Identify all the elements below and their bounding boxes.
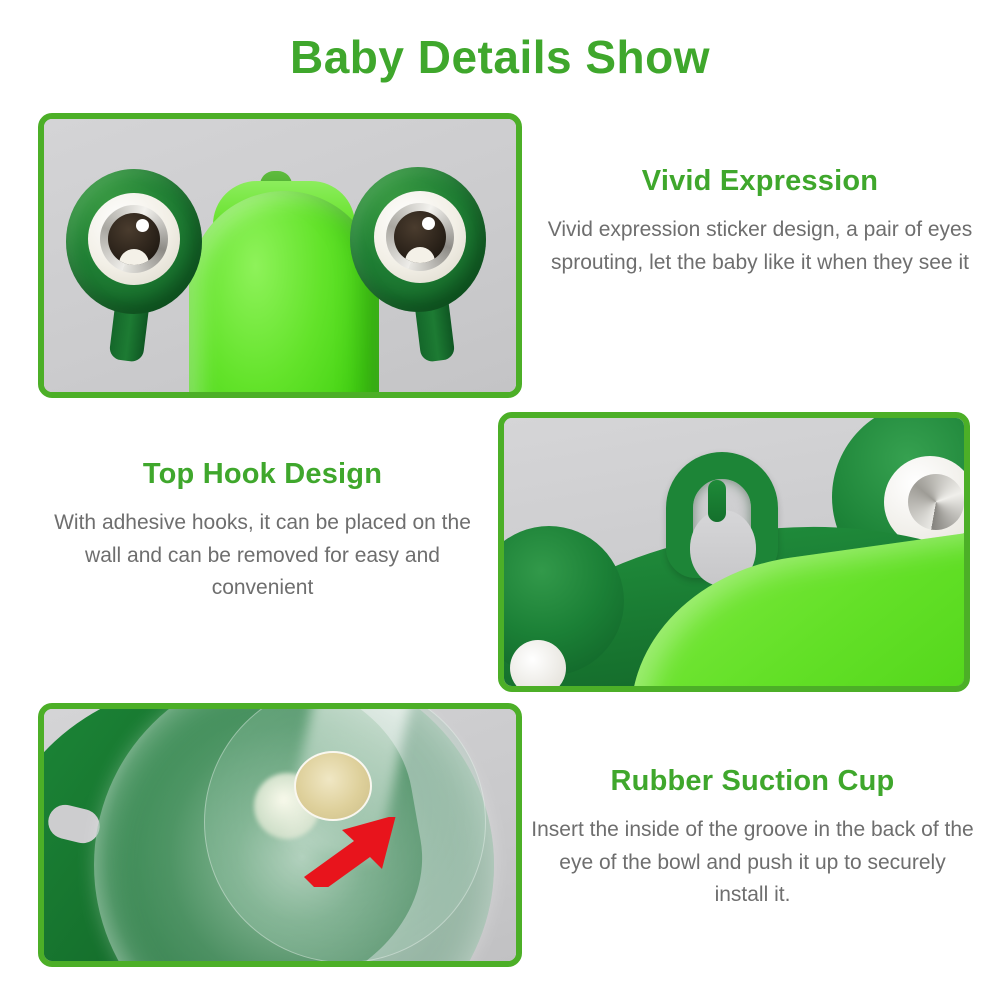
photo-panel-top-hook-design xyxy=(498,412,970,692)
feature-text-rubber-suction-cup: Rubber Suction Cup Insert the inside of … xyxy=(530,765,975,912)
hook-photo xyxy=(504,418,964,686)
frog-eye-pupil-right xyxy=(394,211,446,263)
pupil-highlight-right xyxy=(422,217,435,230)
frog-eye-iris-right-partial xyxy=(908,474,964,530)
photo-panel-vivid-expression xyxy=(38,113,522,398)
feature-text-top-hook-design: Top Hook Design With adhesive hooks, it … xyxy=(35,458,490,605)
frog-head-body xyxy=(189,191,379,392)
feature-heading-top-hook-design: Top Hook Design xyxy=(35,458,490,491)
rubber-suction-cup xyxy=(94,709,494,961)
pupil-lower-highlight-right xyxy=(405,247,435,263)
feature-text-vivid-expression: Vivid Expression Vivid expression sticke… xyxy=(545,165,975,279)
feature-body-vivid-expression: Vivid expression sticker design, a pair … xyxy=(545,214,975,279)
pupil-highlight-left xyxy=(136,219,149,232)
red-arrow-icon xyxy=(302,817,398,887)
feature-heading-rubber-suction-cup: Rubber Suction Cup xyxy=(530,765,975,798)
hanging-hook-tab xyxy=(708,480,726,522)
frog-eyes-photo xyxy=(44,119,516,392)
suction-cup-photo xyxy=(44,709,516,961)
page-title: Baby Details Show xyxy=(0,30,1000,84)
pupil-lower-highlight-left xyxy=(119,249,149,265)
frog-eye-pupil-left xyxy=(108,213,160,265)
suction-cup-center-nub xyxy=(294,751,372,821)
photo-panel-rubber-suction-cup xyxy=(38,703,522,967)
feature-body-top-hook-design: With adhesive hooks, it can be placed on… xyxy=(35,507,490,605)
feature-heading-vivid-expression: Vivid Expression xyxy=(545,165,975,198)
feature-body-rubber-suction-cup: Insert the inside of the groove in the b… xyxy=(530,814,975,912)
